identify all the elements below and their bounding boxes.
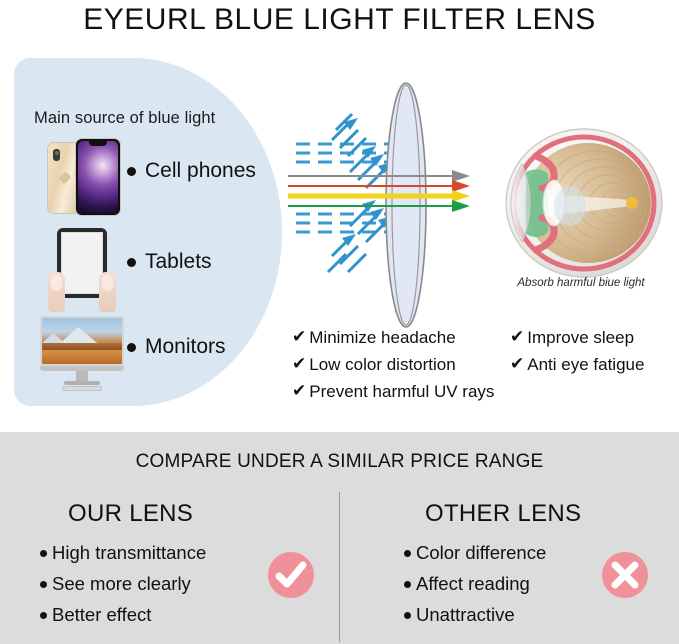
blue-light-info-section: Main source of blue light Cell phones Ta… xyxy=(0,40,679,432)
mountain-ridge xyxy=(42,343,122,350)
our-lens-item: Better effect xyxy=(40,604,151,626)
check-icon: ✔ xyxy=(292,382,306,399)
bullet-icon xyxy=(40,612,47,619)
desktop-monitor-icon xyxy=(40,316,124,390)
source-item-cell-phones: Cell phones xyxy=(127,159,256,183)
source-label-monitors: Monitors xyxy=(145,335,226,359)
source-label-tablets: Tablets xyxy=(145,250,212,274)
benefit-item: ✔ Low color distortion xyxy=(292,355,456,375)
our-lens-item: See more clearly xyxy=(40,573,191,595)
phone-camera-icon xyxy=(53,149,60,161)
bullet-icon xyxy=(127,343,136,352)
bullet-icon xyxy=(404,612,411,619)
other-lens-item-label: Color difference xyxy=(416,542,546,564)
reflected-blue-arrowheads-upper xyxy=(344,118,392,174)
benefits-list: ✔ Minimize headache ✔ Low color distorti… xyxy=(288,328,679,424)
bullet-icon xyxy=(404,581,411,588)
phone-front-icon xyxy=(75,138,121,216)
human-eye-anatomy-illustration xyxy=(492,98,670,328)
tablet-screen xyxy=(61,232,103,294)
benefit-label: Low color distortion xyxy=(309,355,455,375)
monitor-stand-base xyxy=(64,381,100,385)
monitor-stand-neck xyxy=(76,371,88,381)
keyboard-icon xyxy=(62,386,102,391)
other-lens-item: Affect reading xyxy=(404,573,530,595)
our-lens-item: High transmittance xyxy=(40,542,206,564)
source-item-monitors: Monitors xyxy=(127,335,226,359)
bullet-icon xyxy=(404,550,411,557)
phone-logo-icon xyxy=(59,172,72,185)
our-lens-item-label: See more clearly xyxy=(52,573,191,595)
other-lens-item-label: Unattractive xyxy=(416,604,515,626)
blue-light-filter-lens-diagram xyxy=(288,80,488,345)
bullet-icon xyxy=(40,581,47,588)
benefit-item: ✔ Improve sleep xyxy=(510,328,634,348)
check-icon: ✔ xyxy=(292,355,306,372)
comparison-title: COMPARE UNDER A SIMILAR PRICE RANGE xyxy=(0,451,679,473)
source-item-tablets: Tablets xyxy=(127,250,212,274)
smartphone-icon xyxy=(47,138,121,216)
tablet-icon xyxy=(46,228,118,314)
page-title: EYEURL BLUE LIGHT FILTER LENS xyxy=(0,0,679,40)
benefit-label: Minimize headache xyxy=(309,328,455,348)
phone-screen xyxy=(78,141,118,213)
phone-notch xyxy=(89,141,107,146)
benefit-label: Prevent harmful UV rays xyxy=(309,382,494,402)
hand-left-icon xyxy=(48,272,65,312)
bullet-icon xyxy=(127,167,136,176)
hand-right-icon xyxy=(99,272,116,312)
eye-illustration-caption: Absorb harmful biue light xyxy=(492,277,670,289)
our-lens-item-label: Better effect xyxy=(52,604,151,626)
check-icon: ✔ xyxy=(510,328,524,345)
benefit-item: ✔ Anti eye fatigue xyxy=(510,355,644,375)
check-icon: ✔ xyxy=(510,355,524,372)
other-lens-item-label: Affect reading xyxy=(416,573,530,595)
blocked-blue-rays-upper xyxy=(296,144,398,162)
check-icon: ✔ xyxy=(292,328,306,345)
bullet-icon xyxy=(40,550,47,557)
our-lens-heading: OUR LENS xyxy=(68,500,193,528)
benefit-label: Anti eye fatigue xyxy=(527,355,644,375)
macula xyxy=(626,197,638,209)
sources-panel-heading: Main source of blue light xyxy=(34,109,274,128)
our-lens-item-label: High transmittance xyxy=(52,542,206,564)
check-badge-icon xyxy=(268,552,314,598)
benefit-label: Improve sleep xyxy=(527,328,634,348)
source-label-cell-phones: Cell phones xyxy=(145,159,256,183)
monitor-screen xyxy=(40,316,124,366)
other-lens-item: Unattractive xyxy=(404,604,515,626)
anterior-chamber xyxy=(554,186,586,226)
benefit-item: ✔ Prevent harmful UV rays xyxy=(292,382,494,402)
other-lens-heading: OTHER LENS xyxy=(425,500,581,528)
other-lens-item: Color difference xyxy=(404,542,546,564)
cross-badge-icon xyxy=(602,552,648,598)
monitor-wallpaper xyxy=(42,318,122,364)
comparison-section: COMPARE UNDER A SIMILAR PRICE RANGE OUR … xyxy=(0,432,679,644)
passing-ray-arrowheads xyxy=(452,170,470,212)
comparison-divider xyxy=(339,492,340,642)
benefit-item: ✔ Minimize headache xyxy=(292,328,456,348)
bullet-icon xyxy=(127,258,136,267)
